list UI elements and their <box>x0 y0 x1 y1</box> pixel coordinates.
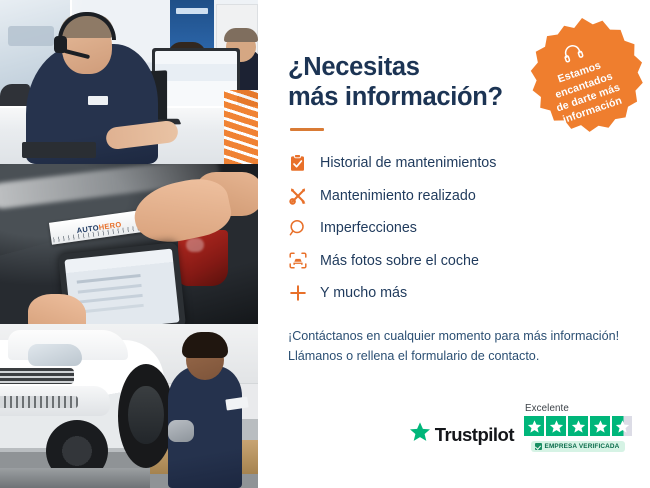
closing-line-2: Llámanos o rellena el formulario de cont… <box>288 349 539 363</box>
trustpilot-wordmark: Trustpilot <box>435 424 514 446</box>
inspector-hand-holding-tablet <box>28 294 86 324</box>
list-item: Mantenimiento realizado <box>288 180 624 213</box>
vehicle-lift-platform <box>0 468 150 488</box>
photo-call-center <box>0 0 258 164</box>
star-icon <box>612 416 632 436</box>
star-icon <box>546 416 566 436</box>
closing-text: ¡Contáctanos en cualquier momento para m… <box>288 326 624 367</box>
badge-text: Estamos encantados de darte más informac… <box>546 56 626 128</box>
trustpilot-score-block: Excelente <box>524 403 632 452</box>
list-item-label: Más fotos sobre el coche <box>320 254 479 268</box>
mechanic-hair <box>182 332 228 358</box>
car-scan-icon <box>288 251 307 270</box>
star-icon <box>590 416 610 436</box>
tools-crossed-icon <box>288 186 307 205</box>
car-lower-grille <box>0 396 78 408</box>
list-item-label: Y mucho más <box>320 286 407 300</box>
closing-line-1: ¡Contáctanos en cualquier momento para m… <box>288 329 619 343</box>
list-item-label: Mantenimiento realizado <box>320 189 476 203</box>
car-headlight <box>28 344 82 366</box>
magnifier-icon <box>288 219 307 238</box>
car-grille <box>0 368 74 384</box>
trustpilot-rating[interactable]: Trustpilot Excelente <box>409 403 632 452</box>
star-icon <box>568 416 588 436</box>
promo-starburst-badge: Estamos encantados de darte más informac… <box>520 18 644 142</box>
mechanic-glove <box>168 420 194 442</box>
photo-column: AUTOHERO <box>0 0 258 488</box>
plus-icon <box>288 284 307 303</box>
verified-company-badge: EMPRESA VERIFICADA <box>531 441 626 452</box>
contact-info-banner: AUTOHERO <box>0 0 650 488</box>
agent-hair-3 <box>224 28 258 42</box>
agent-name-badge <box>88 96 108 105</box>
list-item: Y mucho más <box>288 277 624 310</box>
page-title-line-2: más información? <box>288 83 503 111</box>
list-item-label: Historial de mantenimientos <box>320 156 496 170</box>
photo-vehicle-inspection: AUTOHERO <box>0 164 258 324</box>
list-item: Imperfecciones <box>288 212 624 245</box>
star-icon <box>524 416 544 436</box>
front-wheel <box>118 364 174 468</box>
list-item-label: Imperfecciones <box>320 221 417 235</box>
badge-content: Estamos encantados de darte más informac… <box>503 1 650 159</box>
trustpilot-rating-label: Excelente <box>525 403 569 414</box>
ruler-brand-text: AUTOHERO <box>76 219 122 234</box>
list-item: Más fotos sobre el coche <box>288 245 624 278</box>
verified-badge-label: EMPRESA VERIFICADA <box>545 443 620 450</box>
title-divider <box>290 128 324 131</box>
photo-mechanic-wheel <box>0 324 258 488</box>
list-item: Historial de mantenimientos <box>288 147 624 180</box>
trustpilot-stars <box>524 416 632 436</box>
content-panel: ¿Necesitas más información? Historial de… <box>258 0 650 488</box>
desk-tablet <box>22 142 96 158</box>
trustpilot-star-icon <box>409 421 431 448</box>
page-title-line-1: ¿Necesitas <box>288 53 420 81</box>
page-title: ¿Necesitas más información? <box>288 52 538 112</box>
trustpilot-logo[interactable]: Trustpilot <box>409 421 514 452</box>
feature-list: Historial de mantenimientos M <box>288 147 624 310</box>
check-icon <box>535 443 542 450</box>
orange-rack <box>224 90 258 164</box>
clipboard-check-icon <box>288 154 307 173</box>
